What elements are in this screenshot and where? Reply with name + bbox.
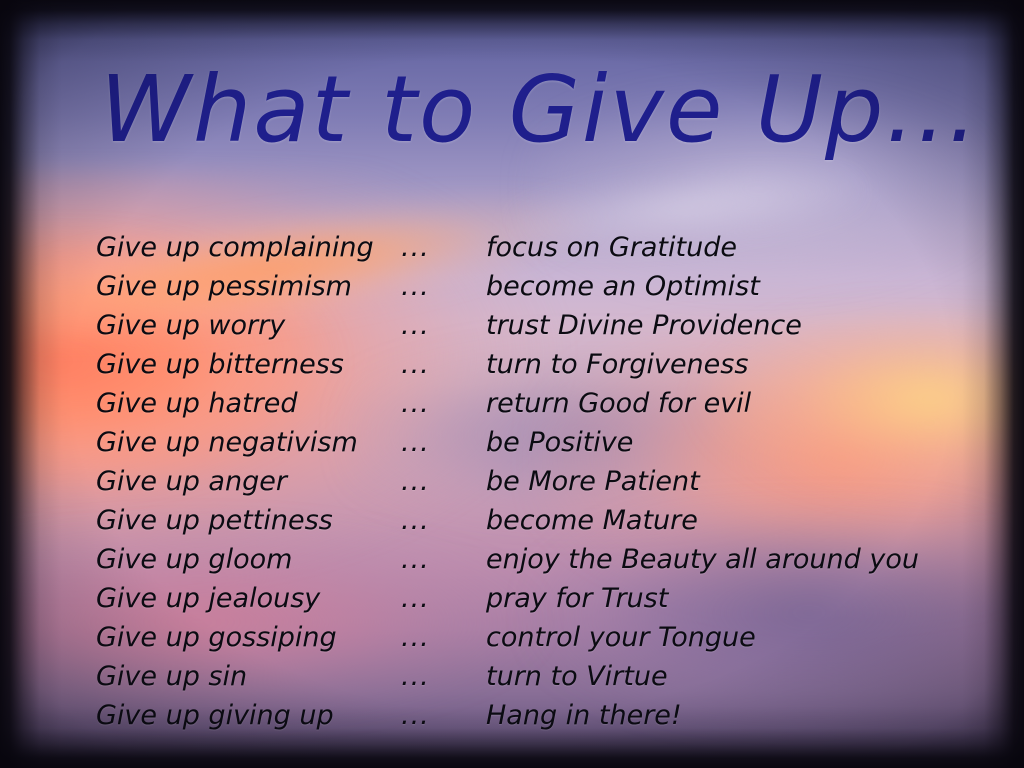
give-up-item-label: Give up sin — [96, 657, 401, 696]
give-up-item-label: Give up worry — [96, 306, 401, 345]
table-row: Give up giving up...Hang in there! — [96, 696, 996, 735]
ellipsis-separator: ... — [401, 384, 486, 423]
give-up-item-label: Give up gloom — [96, 540, 401, 579]
replacement-virtue-label: Hang in there! — [486, 696, 996, 735]
table-row: Give up gloom...enjoy the Beauty all aro… — [96, 540, 996, 579]
table-row: Give up pettiness...become Mature — [96, 501, 996, 540]
poster-canvas: What to Give Up... What to Give Up... Gi… — [0, 0, 1024, 768]
ellipsis-separator: ... — [401, 540, 486, 579]
replacement-virtue-label: be More Patient — [486, 462, 996, 501]
table-row: Give up gossiping...control your Tongue — [96, 618, 996, 657]
give-up-item-label: Give up jealousy — [96, 579, 401, 618]
table-row: Give up bitterness...turn to Forgiveness — [96, 345, 996, 384]
table-row: Give up worry...trust Divine Providence — [96, 306, 996, 345]
ellipsis-separator: ... — [401, 657, 486, 696]
ellipsis-separator: ... — [401, 696, 486, 735]
ellipsis-separator: ... — [401, 306, 486, 345]
ellipsis-separator: ... — [401, 618, 486, 657]
ellipsis-separator: ... — [401, 345, 486, 384]
ellipsis-separator: ... — [401, 462, 486, 501]
replacement-virtue-label: turn to Virtue — [486, 657, 996, 696]
give-up-list-table: What to Give Up... Give up complaining..… — [96, 228, 996, 735]
table-row: Give up negativism...be Positive — [96, 423, 996, 462]
give-up-item-label: Give up bitterness — [96, 345, 401, 384]
ellipsis-separator: ... — [401, 579, 486, 618]
ellipsis-separator: ... — [401, 501, 486, 540]
table-row: Give up anger...be More Patient — [96, 462, 996, 501]
give-up-item-label: Give up giving up — [96, 696, 401, 735]
replacement-virtue-label: become Mature — [486, 501, 996, 540]
ellipsis-separator: ... — [401, 228, 486, 267]
give-up-item-label: Give up complaining — [96, 228, 401, 267]
give-up-item-label: Give up pettiness — [96, 501, 401, 540]
give-up-item-label: Give up anger — [96, 462, 401, 501]
replacement-virtue-label: focus on Gratitude — [486, 228, 996, 267]
give-up-item-label: Give up pessimism — [96, 267, 401, 306]
table-row: Give up sin...turn to Virtue — [96, 657, 996, 696]
give-up-item-label: Give up hatred — [96, 384, 401, 423]
replacement-virtue-label: be Positive — [486, 423, 996, 462]
page-title: What to Give Up... — [100, 62, 970, 159]
give-up-list-body: Give up complaining...focus on Gratitude… — [96, 228, 996, 735]
replacement-virtue-label: trust Divine Providence — [486, 306, 996, 345]
replacement-virtue-label: pray for Trust — [486, 579, 996, 618]
replacement-virtue-label: return Good for evil — [486, 384, 996, 423]
table-row: Give up jealousy...pray for Trust — [96, 579, 996, 618]
replacement-virtue-label: enjoy the Beauty all around you — [486, 540, 996, 579]
ellipsis-separator: ... — [401, 267, 486, 306]
give-up-item-label: Give up negativism — [96, 423, 401, 462]
table-row: Give up complaining...focus on Gratitude — [96, 228, 996, 267]
ellipsis-separator: ... — [401, 423, 486, 462]
replacement-virtue-label: control your Tongue — [486, 618, 996, 657]
replacement-virtue-label: turn to Forgiveness — [486, 345, 996, 384]
table-row: Give up hatred...return Good for evil — [96, 384, 996, 423]
give-up-item-label: Give up gossiping — [96, 618, 401, 657]
table-row: Give up pessimism...become an Optimist — [96, 267, 996, 306]
replacement-virtue-label: become an Optimist — [486, 267, 996, 306]
poster-content: What to Give Up... What to Give Up... Gi… — [0, 0, 1024, 768]
